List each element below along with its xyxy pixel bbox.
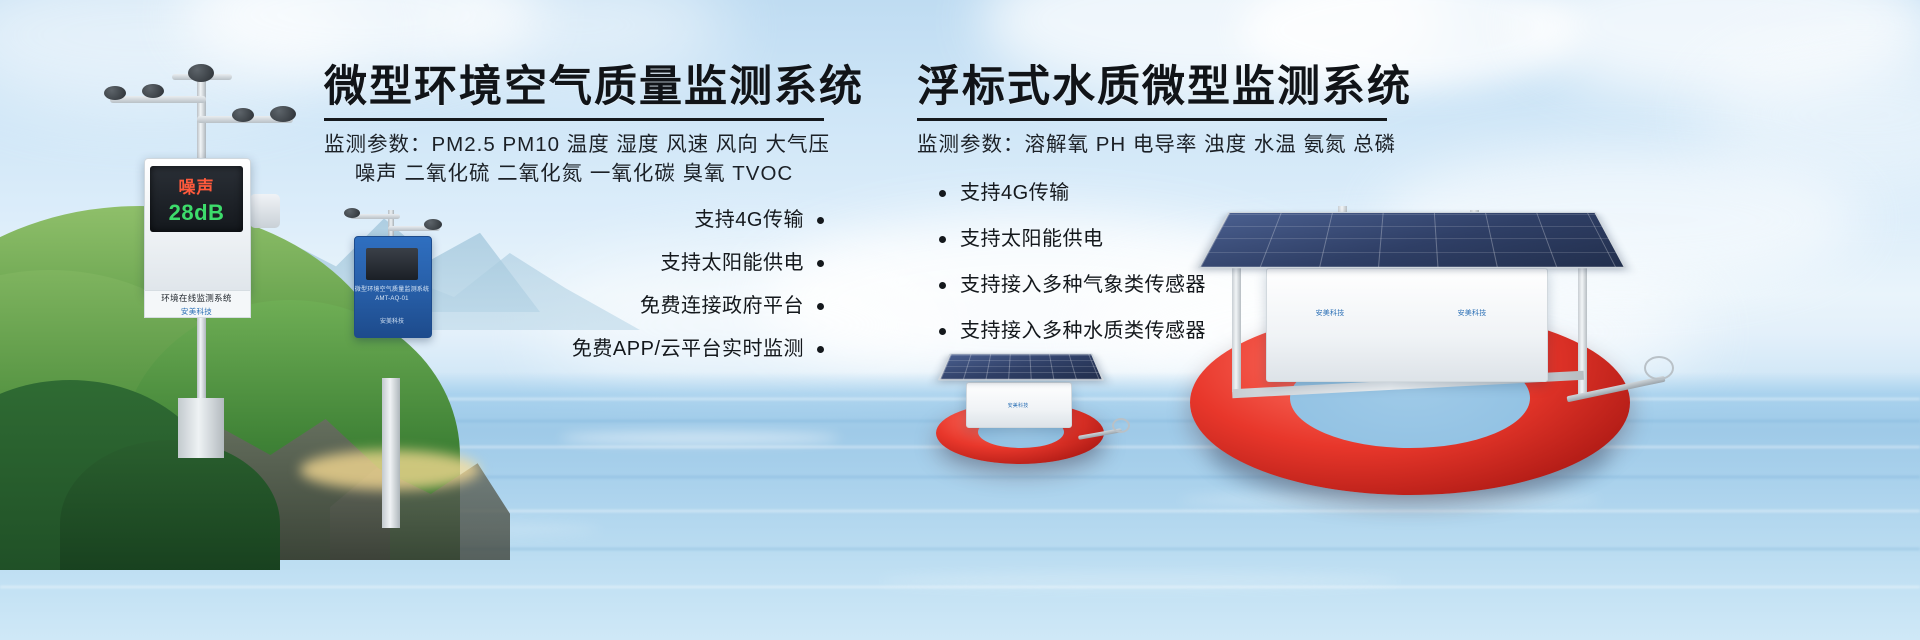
buoy-brand: 安美科技 (986, 402, 1050, 409)
left-panel-title: 微型环境空气质量监测系统 (324, 66, 824, 109)
feature-text: 免费连接政府平台 (640, 295, 804, 317)
feature-text: 支持太阳能供电 (661, 252, 805, 274)
water-quality-buoy-small: 安美科技 (930, 330, 1120, 470)
right-panel-title: 浮标式水质微型监测系统 (917, 66, 1387, 109)
feature-item: 免费APP/云平台实时监测 (324, 339, 824, 359)
feature-item: 支持4G传输 (324, 210, 824, 230)
title-underline (324, 118, 824, 121)
noise-label: 噪声 (179, 173, 215, 198)
bullet-dot-icon (817, 217, 824, 224)
wind-vane (270, 106, 296, 122)
feature-text: 免费APP/云平台实时监测 (572, 338, 804, 360)
feature-text: 支持4G传输 (694, 209, 804, 231)
solar-panel (938, 354, 1105, 381)
bullet-dot-icon (939, 282, 946, 289)
buoy-cabinet (1266, 268, 1548, 382)
radiation-sensor (188, 64, 214, 82)
feature-item: 免费连接政府平台 (324, 296, 824, 316)
weather-station-device: 噪声 28dB 环境在线监测系统 安美科技 (92, 38, 342, 458)
sensor-pod (250, 194, 280, 228)
bullet-dot-icon (939, 190, 946, 197)
station-caption: 环境在线监测系统 (144, 292, 249, 304)
wind-vane (232, 108, 254, 122)
feature-item: 支持太阳能供电 (324, 253, 824, 273)
anemometer-cup (142, 84, 164, 98)
bullet-dot-icon (817, 346, 824, 353)
buoy-probe-tip-icon (1644, 356, 1674, 380)
buoy-brand-left: 安美科技 (1290, 308, 1370, 318)
water-quality-buoy-large: 安美科技 安美科技 (1170, 180, 1650, 520)
bullet-dot-icon (939, 236, 946, 243)
buoy-probe-tip-icon (1112, 418, 1130, 433)
noise-value: 28dB (169, 200, 225, 226)
left-feature-list: 支持4G传输 支持太阳能供电 免费连接政府平台 免费APP/云平台实时监测 (324, 210, 824, 359)
water-shimmer (880, 572, 1400, 590)
buoy-brand-right: 安美科技 (1432, 308, 1512, 318)
bullet-dot-icon (817, 303, 824, 310)
station-display: 噪声 28dB (150, 166, 243, 232)
left-text-panel: 微型环境空气质量监测系统 监测参数：PM2.5 PM10 温度 湿度 风速 风向… (324, 66, 824, 382)
station-pole (178, 398, 224, 458)
feature-text: 支持4G传输 (960, 182, 1070, 204)
left-panel-params-line1: 监测参数：PM2.5 PM10 温度 湿度 风速 风向 大气压 (324, 130, 824, 159)
solar-panel (1198, 212, 1627, 268)
title-underline (917, 118, 1387, 121)
station-brand: 安美科技 (144, 306, 249, 317)
left-panel-params-line2: 噪声 二氧化硫 二氧化氮 一氧化碳 臭氧 TVOC (324, 159, 824, 188)
right-panel-params-line1: 监测参数：溶解氧 PH 电导率 浊度 水温 氨氮 总磷 (917, 130, 1387, 159)
feature-text: 支持太阳能供电 (960, 228, 1104, 250)
banner-stage: 噪声 28dB 环境在线监测系统 安美科技 微型环境空气质量监测系统 AMT-A… (0, 0, 1920, 640)
box-pole (382, 378, 400, 528)
anemometer-cup (104, 86, 126, 100)
bullet-dot-icon (817, 260, 824, 267)
